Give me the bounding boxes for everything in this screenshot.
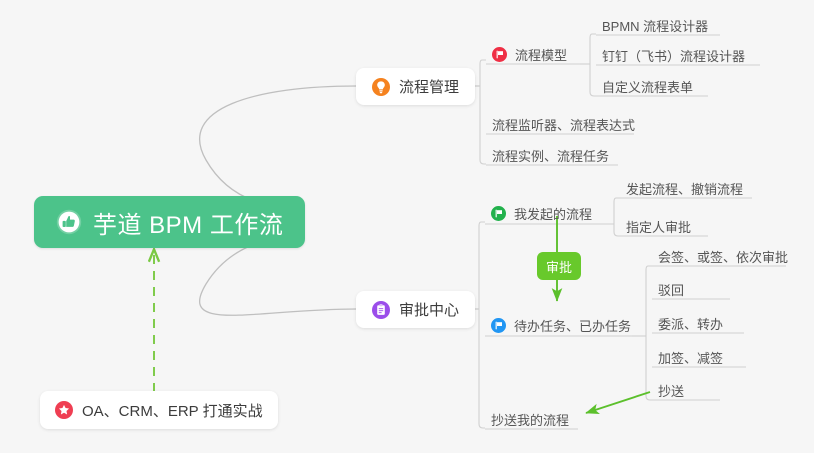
root-node[interactable]: 芋道 BPM 工作流 [34,196,305,248]
grandchild-label-bpmn-designer: BPMN 流程设计器 [602,16,708,35]
spine-process-model [590,34,596,96]
branch-label-process-management: 流程管理 [399,76,459,97]
flag-icon [491,206,506,221]
grandchild-label-start-cancel-process: 发起流程、撤销流程 [626,179,743,198]
grandchild-node-assignee-approval[interactable]: 指定人审批 [626,213,697,239]
branch-node-approval-center[interactable]: 审批中心 [356,291,475,328]
connector-root-to-process-management [200,86,356,206]
child-label-todo-done-tasks: 待办任务、已办任务 [514,316,631,335]
grandchild-label-custom-process-form: 自定义流程表单 [602,77,693,96]
child-label-process-instance-task: 流程实例、流程任务 [492,146,609,165]
star-icon [55,401,73,419]
grandchild-node-reject[interactable]: 驳回 [658,276,690,302]
clipboard-icon [372,301,390,319]
footnote-node[interactable]: OA、CRM、ERP 打通实战 [40,391,278,429]
spine-my-initiated-process [614,198,620,236]
grandchild-node-delegate-transfer[interactable]: 委派、转办 [658,310,729,336]
root-label: 芋道 BPM 工作流 [93,205,283,240]
child-node-cc-to-me-process[interactable]: 抄送我的流程 [491,406,575,432]
footnote-label: OA、CRM、ERP 打通实战 [82,400,263,421]
child-node-todo-done-tasks[interactable]: 待办任务、已办任务 [491,312,637,338]
grandchild-node-carbon-copy[interactable]: 抄送 [658,377,690,403]
flag-icon [491,318,506,333]
child-node-process-instance-task[interactable]: 流程实例、流程任务 [492,142,615,168]
grandchild-label-reject: 驳回 [658,280,684,299]
annotation-chip-label: 审批 [546,257,572,276]
grandchild-node-countersign-orsign-sequential[interactable]: 会签、或签、依次审批 [658,243,794,269]
child-label-process-listener-expression: 流程监听器、流程表达式 [492,115,635,134]
child-node-process-model[interactable]: 流程模型 [492,41,573,67]
connector-root-to-approval-center [200,238,356,315]
grandchild-node-start-cancel-process[interactable]: 发起流程、撤销流程 [626,175,749,201]
grandchild-label-assignee-approval: 指定人审批 [626,217,691,236]
branch-label-approval-center: 审批中心 [399,299,459,320]
spine-todo-done-tasks [646,266,652,400]
child-label-process-model: 流程模型 [515,45,567,64]
spine-approval-center [479,222,485,428]
child-node-my-initiated-process[interactable]: 我发起的流程 [491,200,598,226]
flag-icon [492,47,507,62]
spine-process-management [480,60,486,164]
grandchild-label-add-remove-sign: 加签、减签 [658,348,723,367]
thumbs-up-icon [56,209,82,235]
mindmap-canvas: 芋道 BPM 工作流 流程管理 流程模型 流程监听器、流程表达式 流程实例、流 [0,0,814,453]
annotation-arrow-carbon-copy [586,392,650,413]
child-label-my-initiated-process: 我发起的流程 [514,204,592,223]
child-label-cc-to-me-process: 抄送我的流程 [491,410,569,429]
grandchild-node-dingtalk-feishu-designer[interactable]: 钉钉（飞书）流程设计器 [602,42,751,68]
grandchild-node-custom-process-form[interactable]: 自定义流程表单 [602,73,699,99]
branch-node-process-management[interactable]: 流程管理 [356,68,475,105]
grandchild-label-dingtalk-feishu-designer: 钉钉（飞书）流程设计器 [602,46,745,65]
grandchild-node-bpmn-designer[interactable]: BPMN 流程设计器 [602,12,714,38]
grandchild-label-delegate-transfer: 委派、转办 [658,314,723,333]
grandchild-node-add-remove-sign[interactable]: 加签、减签 [658,344,729,370]
grandchild-label-countersign-orsign-sequential: 会签、或签、依次审批 [658,247,788,266]
child-node-process-listener-expression[interactable]: 流程监听器、流程表达式 [492,111,641,137]
grandchild-label-carbon-copy: 抄送 [658,381,684,400]
lightbulb-icon [372,78,390,96]
annotation-chip-approval[interactable]: 审批 [537,252,581,280]
